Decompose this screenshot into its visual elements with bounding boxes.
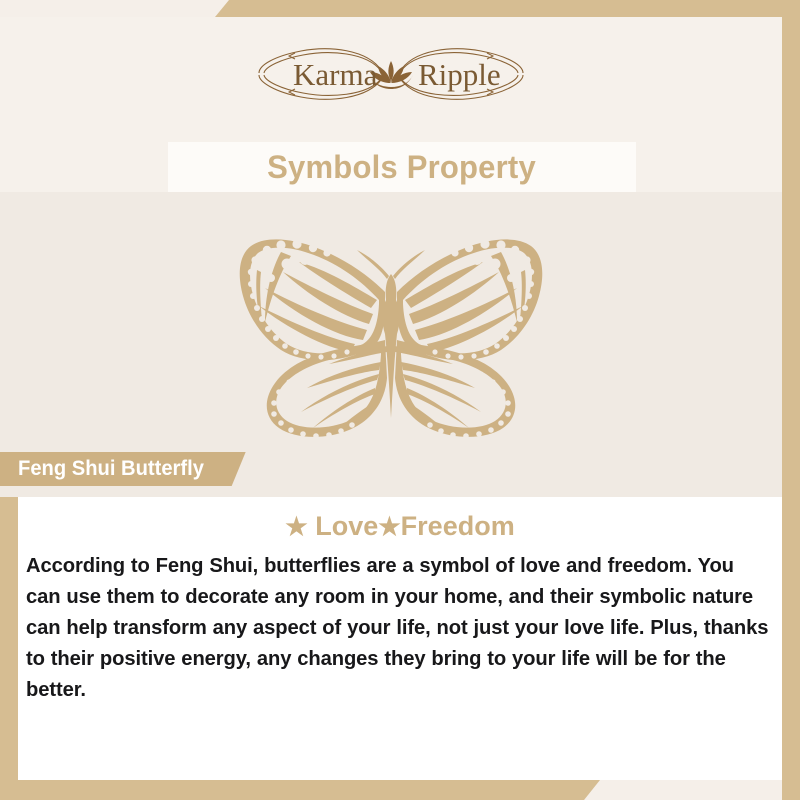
content-panel: ★ Love★Freedom According to Feng Shui, b…: [18, 497, 782, 780]
content-subheading: ★ Love★Freedom: [18, 511, 782, 542]
logo-word-karma: Karma: [293, 57, 378, 92]
page-title-banner: Symbols Property: [168, 142, 636, 192]
page-title: Symbols Property: [268, 149, 537, 186]
brand-logo-svg: Karma Ripple: [231, 39, 551, 109]
frame-bottom-border: [0, 780, 600, 800]
poster-canvas: Karma Ripple Symbols Property: [0, 0, 800, 800]
status-badge-label: Feng Shui Butterfly: [18, 457, 204, 481]
star-icon-middle: ★: [378, 513, 400, 541]
hero-section: [0, 192, 782, 497]
feng-shui-butterfly-icon: [221, 222, 561, 447]
brand-logo: Karma Ripple: [0, 38, 782, 110]
butterfly-illustration-holder: [0, 222, 782, 447]
frame-right-border: [782, 0, 800, 800]
subheading-word-love: Love: [315, 511, 378, 541]
status-badge: Feng Shui Butterfly: [0, 452, 246, 486]
star-icon-left: ★: [285, 513, 307, 541]
logo-word-ripple: Ripple: [418, 57, 501, 92]
subheading-word-freedom: Freedom: [401, 511, 515, 541]
frame-top-border: [215, 0, 800, 17]
body-paragraph: According to Feng Shui, butterflies are …: [26, 551, 774, 706]
